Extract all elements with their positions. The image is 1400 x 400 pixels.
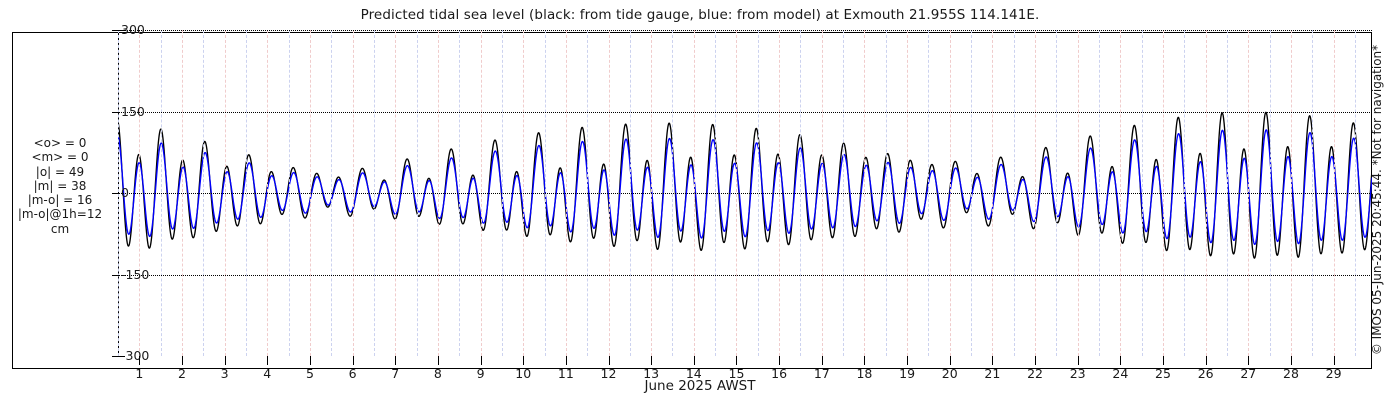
y-axis-tick bbox=[112, 112, 118, 113]
y-axis-end-cap bbox=[118, 356, 125, 357]
x-axis-tick bbox=[182, 356, 183, 365]
gridline-horizontal bbox=[118, 112, 1372, 113]
x-axis-tick bbox=[694, 356, 695, 365]
x-axis-tick bbox=[1035, 356, 1036, 365]
x-axis-tick bbox=[481, 356, 482, 365]
statistics-line: <m> = 0 bbox=[8, 150, 112, 164]
copyright-credit: © IMOS 05-Jun-2025 20:45:44. *Not for na… bbox=[1370, 45, 1384, 355]
gridline-horizontal bbox=[118, 275, 1372, 276]
x-axis-tick bbox=[523, 356, 524, 365]
x-axis-tick bbox=[736, 356, 737, 365]
y-axis-tick-label: -150 bbox=[121, 267, 149, 282]
tidal-plot-page: Predicted tidal sea level (black: from t… bbox=[0, 0, 1400, 400]
page-title: Predicted tidal sea level (black: from t… bbox=[0, 7, 1400, 23]
plot-area bbox=[118, 30, 1372, 356]
plot-canvas bbox=[118, 30, 1372, 356]
x-axis-tick bbox=[1120, 356, 1121, 365]
x-axis-tick bbox=[950, 356, 951, 365]
gridline-horizontal bbox=[118, 193, 1372, 194]
statistics-line: <o> = 0 bbox=[8, 136, 112, 150]
x-axis-tick bbox=[225, 356, 226, 365]
y-axis-tick bbox=[112, 275, 118, 276]
statistics-line: |m| = 38 bbox=[8, 179, 112, 193]
x-axis-tick bbox=[609, 356, 610, 365]
x-axis-tick bbox=[1334, 356, 1335, 365]
x-axis-tick bbox=[566, 356, 567, 365]
statistics-line: |m-o| = 16 bbox=[8, 193, 112, 207]
y-axis-tick bbox=[112, 193, 118, 194]
x-axis-tick bbox=[267, 356, 268, 365]
x-axis-tick bbox=[907, 356, 908, 365]
x-axis-tick bbox=[310, 356, 311, 365]
x-axis-tick bbox=[864, 356, 865, 365]
gridline-horizontal bbox=[118, 30, 1372, 31]
x-axis-tick bbox=[1163, 356, 1164, 365]
statistics-line: cm bbox=[8, 222, 112, 236]
x-axis-tick bbox=[1291, 356, 1292, 365]
x-axis-tick bbox=[1248, 356, 1249, 365]
statistics-line: |m-o|@1h=12 bbox=[8, 207, 112, 221]
y-axis-end-cap bbox=[118, 30, 125, 31]
x-axis-tick bbox=[1078, 356, 1079, 365]
x-axis-tick bbox=[779, 356, 780, 365]
x-axis-tick bbox=[395, 356, 396, 365]
y-axis-tick-label: 0 bbox=[121, 185, 129, 200]
x-axis-tick bbox=[353, 356, 354, 365]
y-axis-tick-label: -300 bbox=[121, 348, 149, 363]
x-axis-tick bbox=[1206, 356, 1207, 365]
x-axis-tick bbox=[651, 356, 652, 365]
x-axis-tick bbox=[438, 356, 439, 365]
x-axis-tick bbox=[822, 356, 823, 365]
x-axis-tick bbox=[139, 356, 140, 365]
statistics-line: |o| = 49 bbox=[8, 165, 112, 179]
statistics-block: <o> = 0<m> = 0|o| = 49|m| = 38|m-o| = 16… bbox=[8, 136, 112, 236]
y-axis-tick-label: 150 bbox=[121, 104, 145, 119]
x-axis-tick bbox=[992, 356, 993, 365]
x-axis-title: June 2025 AWST bbox=[0, 378, 1400, 394]
